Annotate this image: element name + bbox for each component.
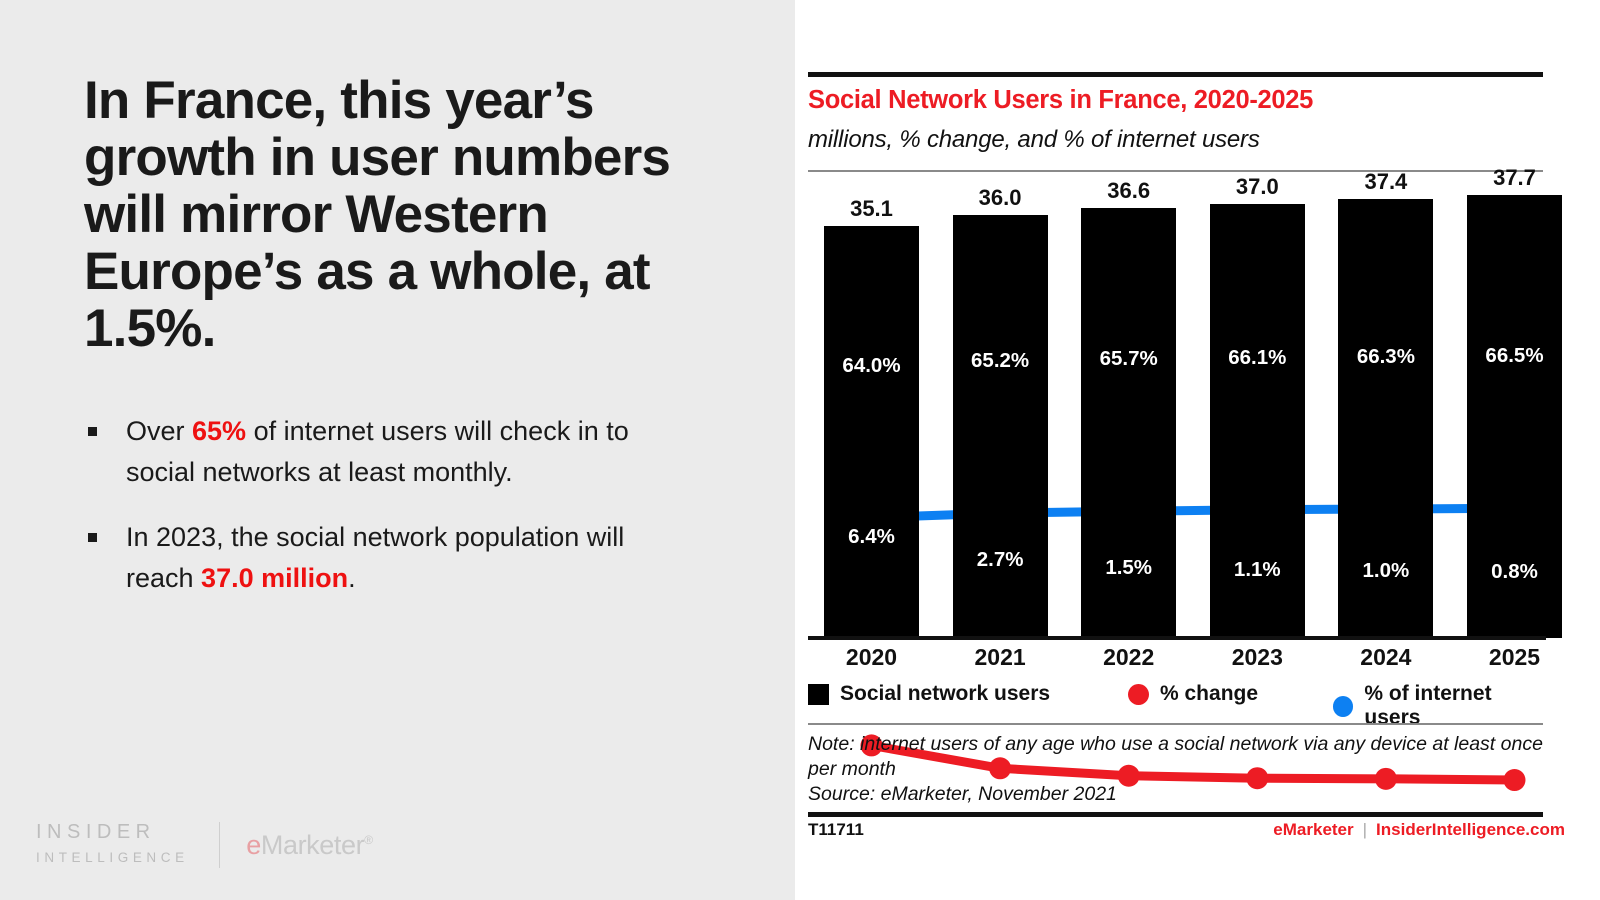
x-axis-tick-2021: 2021 xyxy=(953,644,1048,671)
legend-item-bars: Social network users xyxy=(808,682,1050,706)
brand-logo: INSIDER INTELLIGENCE eMarketer® xyxy=(36,820,373,870)
bar-value-label: 35.1 xyxy=(824,196,919,222)
legend-label: % change xyxy=(1160,682,1258,706)
point-value-label: 66.3% xyxy=(1331,345,1441,369)
logo-line-intelligence: INTELLIGENCE xyxy=(36,845,189,870)
chart-note: Note: internet users of any age who use … xyxy=(808,732,1548,807)
bar-value-label: 36.6 xyxy=(1081,178,1176,204)
x-axis-tick-2020: 2020 xyxy=(824,644,919,671)
legend-label: Social network users xyxy=(840,682,1050,706)
note-text: Note: internet users of any age who use … xyxy=(808,732,1548,782)
registered-icon: ® xyxy=(364,833,372,847)
list-item: Over 65% of internet users will check in… xyxy=(84,411,684,493)
bullet-text-post: . xyxy=(348,563,356,593)
emarketer-rest: Marketer xyxy=(261,830,364,860)
emarketer-logo: eMarketer® xyxy=(246,830,372,861)
footer-emarketer[interactable]: eMarketer xyxy=(1273,820,1353,840)
legend-swatch-circle-blue-icon xyxy=(1333,696,1353,717)
slide: In France, this year’s growth in user nu… xyxy=(0,0,1600,900)
point-value-label: 0.8% xyxy=(1460,560,1570,584)
emarketer-e: e xyxy=(246,830,261,860)
bar-value-label: 37.7 xyxy=(1467,165,1562,191)
chart-subtitle: millions, % change, and % of internet us… xyxy=(808,126,1260,154)
chart-panel: Social Network Users in France, 2020-202… xyxy=(795,0,1600,900)
logo-line-insider: INSIDER xyxy=(36,820,189,845)
x-axis-tick-2025: 2025 xyxy=(1467,644,1562,671)
x-axis-tick-2024: 2024 xyxy=(1338,644,1433,671)
bullet-list: Over 65% of internet users will check in… xyxy=(84,411,684,599)
x-axis-tick-2023: 2023 xyxy=(1210,644,1305,671)
point-value-label: 64.0% xyxy=(817,354,927,378)
point-value-label: 66.5% xyxy=(1460,344,1570,368)
x-axis-line xyxy=(808,636,1546,640)
point-value-label: 66.1% xyxy=(1202,346,1312,370)
chart-id: T11711 xyxy=(808,820,864,840)
bullet-highlight: 37.0 million xyxy=(201,563,348,593)
legend-swatch-circle-red-icon xyxy=(1128,684,1149,705)
point-value-label: 1.0% xyxy=(1331,559,1441,583)
divider-note xyxy=(808,723,1543,725)
bar-2020 xyxy=(824,226,919,638)
chart-title: Social Network Users in France, 2020-202… xyxy=(808,86,1313,115)
footer-separator: | xyxy=(1363,820,1367,840)
chart-plot-area: 35.136.036.637.037.437.764.0%65.2%65.7%6… xyxy=(808,180,1546,638)
point-value-label: 65.7% xyxy=(1074,347,1184,371)
bar-value-label: 36.0 xyxy=(953,185,1048,211)
divider-footer xyxy=(808,812,1543,817)
footer-brand[interactable]: eMarketer | InsiderIntelligence.com xyxy=(1273,820,1565,840)
footer-site-link[interactable]: InsiderIntelligence.com xyxy=(1376,820,1565,840)
bar-value-label: 37.4 xyxy=(1338,169,1433,195)
left-panel: In France, this year’s growth in user nu… xyxy=(0,0,795,900)
bar-value-label: 37.0 xyxy=(1210,174,1305,200)
bullet-square-icon xyxy=(88,427,97,436)
source-text: Source: eMarketer, November 2021 xyxy=(808,782,1548,807)
headline: In France, this year’s growth in user nu… xyxy=(84,72,704,357)
bullet-square-icon xyxy=(88,533,97,542)
logo-divider xyxy=(219,822,221,868)
chart-legend: Social network users % change % of inter… xyxy=(808,682,1548,708)
legend-item-change: % change xyxy=(1128,682,1258,706)
point-value-label: 2.7% xyxy=(945,548,1055,572)
divider-top xyxy=(808,72,1543,77)
insider-intelligence-logo: INSIDER INTELLIGENCE xyxy=(36,820,189,870)
bullet-highlight: 65% xyxy=(192,416,246,446)
point-value-label: 1.5% xyxy=(1074,556,1184,580)
legend-swatch-square-icon xyxy=(808,684,829,705)
point-value-label: 1.1% xyxy=(1202,558,1312,582)
point-value-label: 65.2% xyxy=(945,349,1055,373)
bullet-text-pre: Over xyxy=(126,416,192,446)
x-axis-tick-2022: 2022 xyxy=(1081,644,1176,671)
list-item: In 2023, the social network population w… xyxy=(84,517,684,599)
point-value-label: 6.4% xyxy=(817,525,927,549)
bar-2021 xyxy=(953,215,1048,638)
